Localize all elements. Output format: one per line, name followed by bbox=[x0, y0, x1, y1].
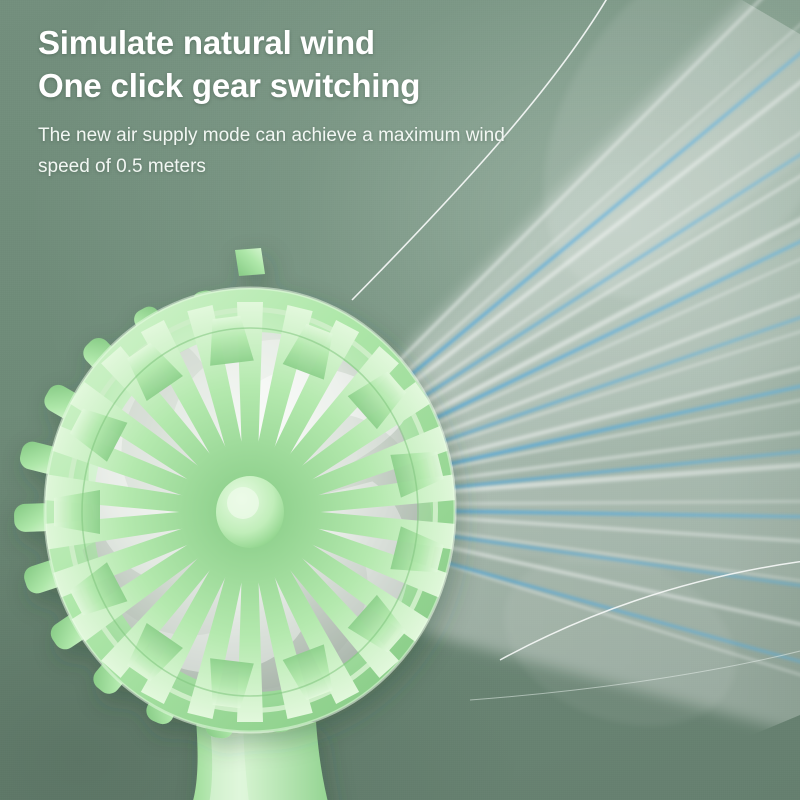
headline-line-1: Simulate natural wind bbox=[38, 24, 375, 61]
product-banner: Simulate natural wind One click gear swi… bbox=[0, 0, 800, 800]
fan-product-image bbox=[0, 250, 520, 800]
subtitle: The new air supply mode can achieve a ma… bbox=[38, 121, 528, 183]
copy-block: Simulate natural wind One click gear swi… bbox=[38, 22, 558, 183]
headline-line-2: One click gear switching bbox=[38, 65, 558, 108]
page-title: Simulate natural wind One click gear swi… bbox=[38, 22, 558, 107]
subtitle-line-1: The new air supply mode can achieve a ma… bbox=[38, 125, 460, 146]
